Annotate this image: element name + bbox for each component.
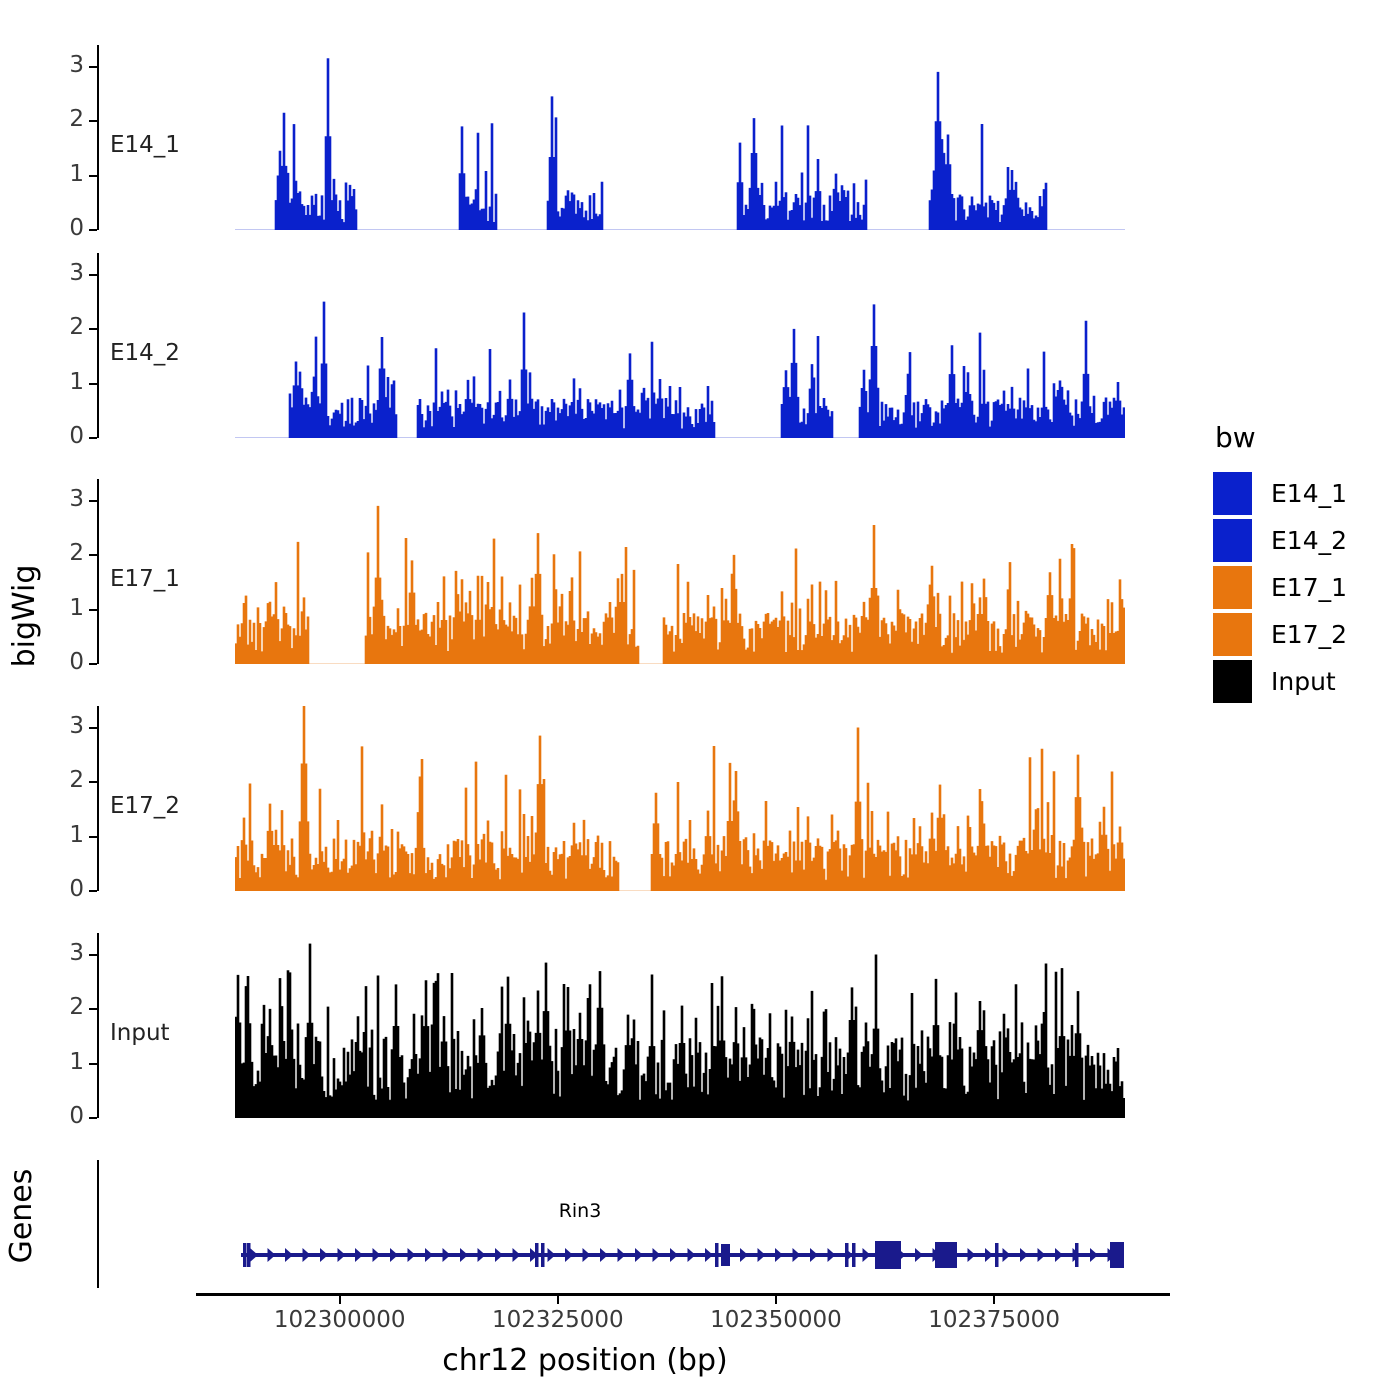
track-label: E14_1: [110, 132, 180, 158]
gene-model[interactable]: [235, 1238, 1125, 1272]
x-tick: [993, 1296, 995, 1304]
y-tick: [89, 836, 97, 838]
x-tick-label: 102325000: [458, 1307, 658, 1333]
y-tick: [89, 274, 97, 276]
x-tick: [775, 1296, 777, 1304]
y-tick-label: 2: [44, 996, 84, 1019]
track-input: 3210Input: [0, 933, 1160, 1118]
legend-label: Input: [1271, 667, 1336, 696]
y-axis-line: [97, 706, 99, 891]
y-tick: [89, 727, 97, 729]
y-tick-label: 2: [44, 542, 84, 565]
y-tick-label: 3: [44, 488, 84, 511]
y-tick-label: 1: [44, 1051, 84, 1074]
y-tick: [89, 1008, 97, 1010]
y-axis-line: [97, 253, 99, 438]
y-tick-label: 0: [44, 425, 84, 448]
y-tick-label: 1: [44, 371, 84, 394]
y-tick: [89, 609, 97, 611]
y-tick: [89, 120, 97, 122]
signal-plot: [235, 933, 1125, 1118]
signal-plot: [235, 479, 1125, 664]
legend-items: E14_1E14_2E17_1E17_2Input: [1213, 470, 1393, 705]
y-tick-label: 0: [44, 217, 84, 240]
y-tick: [89, 328, 97, 330]
y-tick: [89, 383, 97, 385]
y-tick: [89, 1063, 97, 1065]
legend-label: E14_1: [1271, 479, 1347, 508]
legend-item-e17_2[interactable]: E17_2: [1213, 611, 1393, 658]
y-tick: [89, 554, 97, 556]
y-tick-label: 1: [44, 163, 84, 186]
legend-label: E17_2: [1271, 620, 1347, 649]
legend-swatch: [1213, 613, 1252, 656]
y-tick-label: 0: [44, 651, 84, 674]
legend-swatch: [1213, 566, 1252, 609]
gene-track-panel: Rin3: [0, 1160, 1160, 1290]
y-tick-label: 2: [44, 316, 84, 339]
legend-label: E17_1: [1271, 573, 1347, 602]
signal-plot: [235, 253, 1125, 438]
y-tick: [89, 890, 97, 892]
y-tick-label: 0: [44, 878, 84, 901]
y-tick-label: 0: [44, 1105, 84, 1128]
y-tick: [89, 500, 97, 502]
gene-name-label: Rin3: [0, 1200, 1160, 1222]
legend-swatch: [1213, 472, 1252, 515]
signal-plot: [235, 706, 1125, 891]
signal-plot: [235, 45, 1125, 230]
y-tick-label: 2: [44, 108, 84, 131]
y-tick: [89, 781, 97, 783]
x-axis-title: chr12 position (bp): [0, 1343, 1170, 1378]
y-tick-label: 2: [44, 769, 84, 792]
x-tick: [339, 1296, 341, 1304]
y-axis-line: [97, 45, 99, 230]
track-label: E17_2: [110, 793, 180, 819]
y-tick: [89, 437, 97, 439]
y-tick-label: 3: [44, 715, 84, 738]
track-label: E17_1: [110, 566, 180, 592]
legend: bw E14_1E14_2E17_1E17_2Input: [1213, 424, 1393, 705]
y-tick: [89, 954, 97, 956]
y-tick: [89, 1117, 97, 1119]
track-e17_2: 3210E17_2: [0, 706, 1160, 891]
legend-item-e17_1[interactable]: E17_1: [1213, 564, 1393, 611]
y-axis-line: [97, 479, 99, 664]
y-tick: [89, 175, 97, 177]
track-e17_1: 3210E17_1: [0, 479, 1160, 664]
x-tick-label: 102350000: [676, 1307, 876, 1333]
x-axis-line: [196, 1293, 1170, 1296]
legend-label: E14_2: [1271, 526, 1347, 555]
legend-swatch: [1213, 519, 1252, 562]
y-axis-line: [97, 933, 99, 1118]
legend-item-e14_2[interactable]: E14_2: [1213, 517, 1393, 564]
track-label: Input: [110, 1020, 170, 1046]
track-e14_1: 3210E14_1: [0, 45, 1160, 230]
legend-item-e14_1[interactable]: E14_1: [1213, 470, 1393, 517]
track-label: E14_2: [110, 340, 180, 366]
y-tick-label: 1: [44, 824, 84, 847]
x-tick-label: 102375000: [894, 1307, 1094, 1333]
x-tick: [557, 1296, 559, 1304]
y-tick: [89, 229, 97, 231]
x-tick-label: 102300000: [240, 1307, 440, 1333]
y-tick-label: 1: [44, 597, 84, 620]
y-tick-label: 3: [44, 54, 84, 77]
y-tick: [89, 66, 97, 68]
track-e14_2: 3210E14_2: [0, 253, 1160, 438]
legend-title: bw: [1215, 424, 1393, 452]
y-tick-label: 3: [44, 262, 84, 285]
gene-axis-line: [97, 1160, 99, 1288]
legend-item-input[interactable]: Input: [1213, 658, 1393, 705]
legend-swatch: [1213, 660, 1252, 703]
y-tick: [89, 663, 97, 665]
y-tick-label: 3: [44, 942, 84, 965]
